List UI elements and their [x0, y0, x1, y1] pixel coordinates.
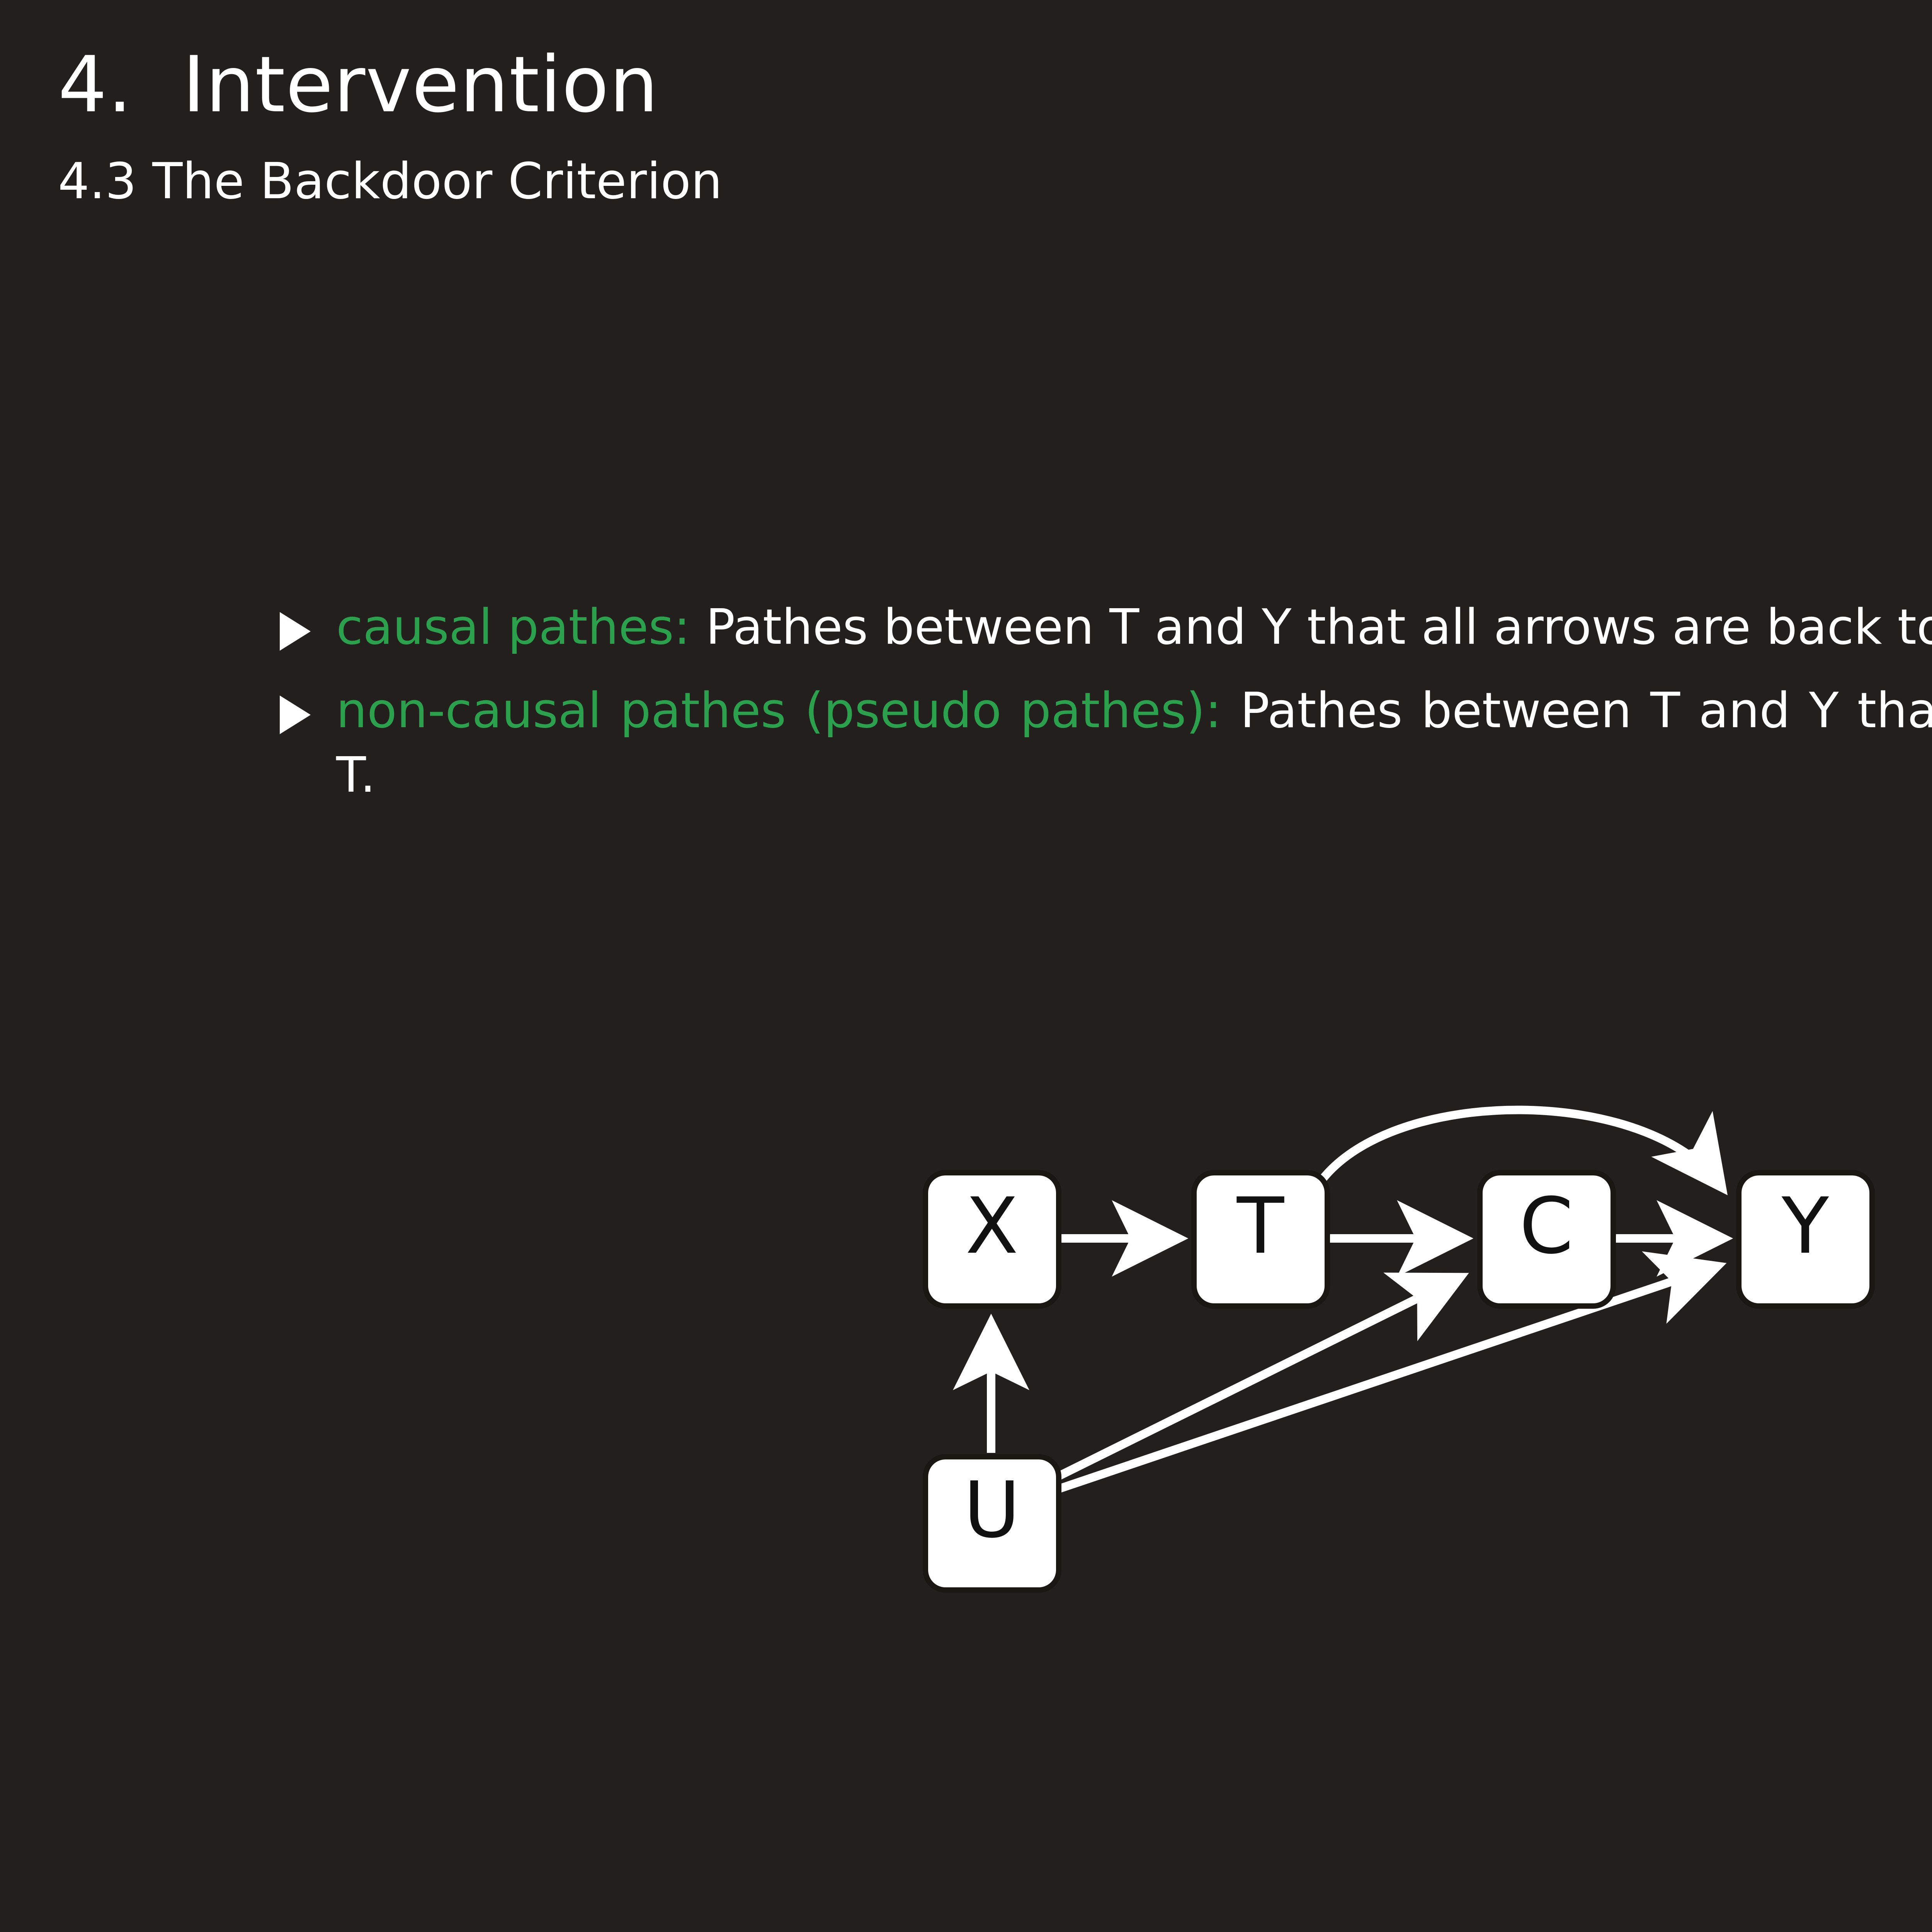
bullet-text: causal pathes: Pathes between T and Y th…: [336, 595, 1932, 659]
dag-node-t: T: [1194, 1173, 1327, 1306]
dag-node-label: C: [1519, 1181, 1573, 1271]
page-subtitle: 4.3 The Backdoor Criterion: [58, 157, 722, 206]
list-item: non-causal pathes (pseudo pathes): Pathe…: [278, 679, 1932, 807]
edge-u-c: [1051, 1279, 1457, 1480]
list-item: causal pathes: Pathes between T and Y th…: [278, 595, 1932, 659]
bullet-highlight: non-causal pathes (pseudo pathes):: [336, 682, 1221, 739]
dag-node-c: C: [1480, 1173, 1613, 1306]
slide-header: 4. Intervention 4.3 The Backdoor Criteri…: [58, 46, 722, 206]
bullet-rest: Pathes between T and Y that all arrows a…: [690, 599, 1932, 655]
bullet-list: causal pathes: Pathes between T and Y th…: [278, 595, 1932, 827]
triangle-right-icon: [278, 679, 336, 735]
page-title: 4. Intervention: [58, 46, 722, 124]
slide-root: 4. Intervention 4.3 The Backdoor Criteri…: [0, 0, 1932, 1932]
bullet-highlight: causal pathes:: [336, 599, 690, 655]
bullet-text: non-causal pathes (pseudo pathes): Pathe…: [336, 679, 1932, 807]
dag-node-label: X: [965, 1181, 1018, 1271]
causal-dag-diagram: X T C Y U: [889, 1097, 1932, 1623]
dag-node-label: U: [964, 1465, 1020, 1555]
dag-node-label: Y: [1781, 1181, 1829, 1271]
dag-node-label: T: [1236, 1181, 1284, 1271]
dag-node-u: U: [925, 1457, 1059, 1590]
edge-u-y: [1051, 1267, 1714, 1492]
dag-node-y: Y: [1739, 1173, 1872, 1306]
dag-node-x: X: [925, 1173, 1059, 1306]
triangle-right-icon: [278, 595, 336, 651]
